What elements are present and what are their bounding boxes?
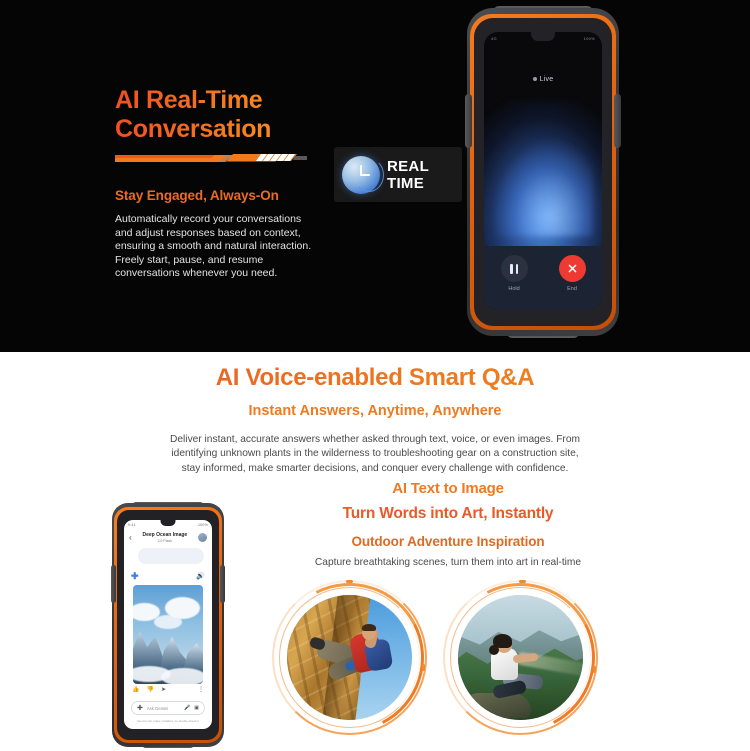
- phone-notch: [531, 32, 555, 41]
- generated-image[interactable]: [133, 585, 203, 684]
- body-line: Deliver instant, accurate answers whethe…: [142, 433, 608, 447]
- live-indicator: Live: [484, 76, 602, 83]
- body-line: stay informed, make smarter decisions, a…: [142, 462, 608, 476]
- ai-realtime-section: AI Real-Time Conversation Stay Engaged, …: [0, 0, 750, 352]
- rock-climber-photo-circle: [272, 580, 427, 735]
- qa-title: AI Voice-enabled Smart Q&A: [0, 364, 750, 392]
- hold-control[interactable]: Hold: [493, 255, 535, 292]
- qa-subtitle: Instant Answers, Anytime, Anywhere: [0, 403, 750, 419]
- real-time-badge: REAL TIME: [334, 147, 462, 202]
- ai-disclaimer: Gemini can make mistakes, so double-chec…: [124, 719, 212, 723]
- voice-glow-visual-inner: [493, 140, 592, 236]
- realtime-body-copy: Automatically record your conversations …: [115, 213, 343, 281]
- real-time-badge-label: REAL TIME: [387, 158, 462, 192]
- call-control-tray: Hold End: [484, 246, 602, 310]
- phone-notch: [161, 520, 176, 526]
- pause-icon[interactable]: [501, 255, 528, 282]
- decor-ring-tick: [593, 666, 596, 673]
- phone-screen: 4G 100% Live Hold: [484, 32, 602, 310]
- decor-ring-tick: [346, 580, 353, 583]
- outdoor-inspiration-heading: Outdoor Adventure Inspiration: [248, 534, 648, 549]
- body-line: identifying unknown plants in the wilder…: [142, 447, 608, 461]
- header-titles: Deep Ocean Image 2.0 Flash: [132, 532, 198, 543]
- text-to-image-block: AI Text to Image Turn Words into Art, In…: [248, 480, 648, 568]
- thumbs-down-icon[interactable]: 👎: [146, 687, 153, 693]
- phone-right-bumper: [614, 94, 621, 148]
- share-icon[interactable]: ➤: [161, 687, 166, 693]
- tech-divider-icon: [115, 150, 307, 168]
- live-label: Live: [540, 76, 554, 83]
- body-line: and adjust responses based on context,: [115, 227, 343, 241]
- outdoor-inspiration-caption: Capture breathtaking scenes, turn them i…: [248, 557, 648, 568]
- chat-title: Deep Ocean Image: [132, 532, 198, 538]
- app-header: ‹ Deep Ocean Image 2.0 Flash: [124, 529, 212, 546]
- mountain-hiker-photo-circle: [443, 580, 598, 735]
- plus-icon[interactable]: ✚: [137, 705, 143, 712]
- clock-icon: [342, 156, 380, 194]
- realtime-headline-line1: AI Real-Time: [115, 88, 360, 112]
- status-bar-left: 9:41: [128, 523, 136, 527]
- microphone-icon[interactable]: 🎤: [184, 706, 190, 711]
- phone-left-bumper: [111, 565, 116, 603]
- mountain-hiker-photo: [458, 595, 583, 720]
- realtime-copy-block: AI Real-Time Conversation Stay Engaged, …: [115, 88, 360, 141]
- body-line: ensuring a smooth and natural interactio…: [115, 240, 343, 254]
- ask-gemini-input[interactable]: ✚ Ask Gemini 🎤 ▣: [131, 701, 205, 715]
- realtime-subheadline: Stay Engaged, Always-On: [115, 188, 279, 203]
- model-subtitle: 2.0 Flash: [132, 539, 198, 543]
- hold-button-label: Hold: [493, 286, 535, 292]
- rock-climber-photo: [287, 595, 412, 720]
- phone-right-bumper: [220, 565, 225, 603]
- text-to-image-heading: AI Text to Image: [248, 480, 648, 497]
- end-control[interactable]: End: [551, 255, 593, 292]
- avatar[interactable]: [198, 533, 207, 542]
- phone-left-bumper: [465, 94, 472, 148]
- body-line: Automatically record your conversations: [115, 213, 343, 227]
- status-bar-right: 100%: [198, 523, 208, 527]
- status-bar-left: 4G: [491, 36, 497, 41]
- live-dot-icon: [533, 77, 537, 81]
- phone-bezel: 4G 100% Live Hold: [474, 18, 612, 326]
- thumbs-up-icon[interactable]: 👍: [132, 687, 139, 693]
- response-icon-row: ✚ 🔊: [124, 570, 212, 582]
- text-to-image-tagline: Turn Words into Art, Instantly: [248, 505, 648, 523]
- gemini-phone-mockup: 9:41 100% ‹ Deep Ocean Image 2.0 Flash ✚…: [112, 503, 224, 747]
- status-bar-right: 100%: [584, 36, 595, 41]
- speaker-icon[interactable]: 🔊: [196, 573, 205, 580]
- phone-bezel: 9:41 100% ‹ Deep Ocean Image 2.0 Flash ✚…: [117, 510, 219, 740]
- rugged-phone-mockup: 4G 100% Live Hold: [467, 8, 619, 336]
- more-vertical-icon[interactable]: ⋮: [198, 687, 204, 693]
- ask-gemini-placeholder: Ask Gemini: [147, 706, 180, 711]
- chat-bubble: [138, 548, 204, 564]
- body-line: Freely start, pause, and resume: [115, 254, 343, 268]
- decor-ring-tick: [422, 664, 425, 671]
- realtime-headline-line2: Conversation: [115, 117, 360, 141]
- end-button-label: End: [551, 286, 593, 292]
- camera-icon[interactable]: ▣: [194, 706, 199, 711]
- qa-body-copy: Deliver instant, accurate answers whethe…: [142, 433, 608, 476]
- plus-icon[interactable]: ✚: [131, 572, 139, 581]
- message-actions: 👍 👎 ➤ ⋮: [124, 684, 212, 696]
- decor-ring-tick: [519, 580, 526, 583]
- body-line: conversations whenever you need.: [115, 267, 343, 281]
- gemini-app-screen: 9:41 100% ‹ Deep Ocean Image 2.0 Flash ✚…: [124, 520, 212, 729]
- close-x-icon[interactable]: [559, 255, 586, 282]
